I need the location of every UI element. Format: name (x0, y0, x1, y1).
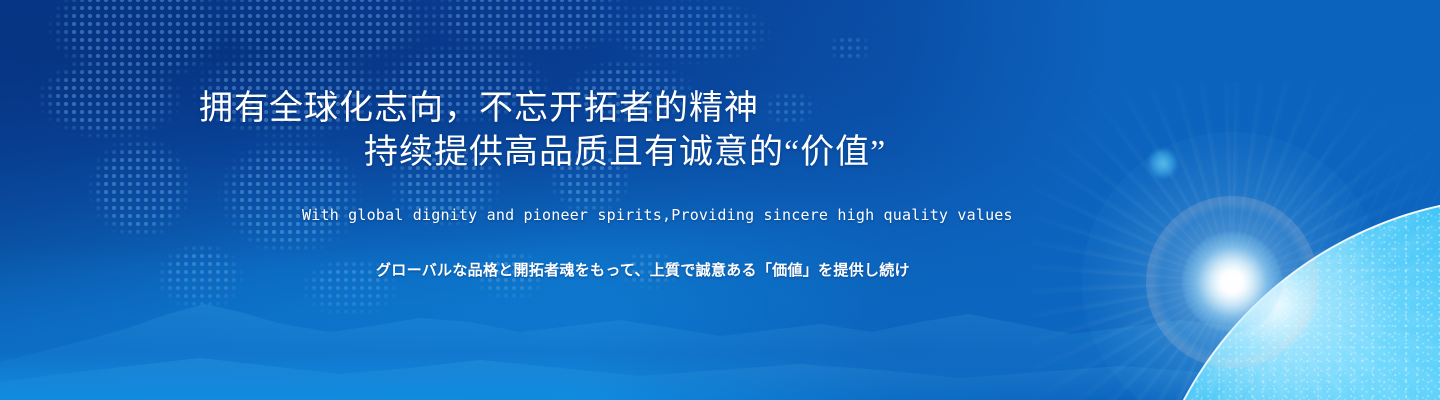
headline-line-1: 拥有全球化志向，不忘开拓者的精神 (199, 92, 759, 126)
subline-japanese: グローバルな品格と開拓者魂をもって、上質で誠意ある「価値」を提供し続け (376, 259, 910, 280)
hero-banner: 拥有全球化志向，不忘开拓者的精神 持续提供高品质且有诚意的“价值” With g… (0, 0, 1440, 400)
headline-line-2: 持续提供高品质且有诚意的“价值” (364, 136, 886, 170)
banner-copy-block: 拥有全球化志向，不忘开拓者的精神 持续提供高品质且有诚意的“价值” With g… (0, 0, 1440, 400)
subline-english: With global dignity and pioneer spirits,… (302, 206, 1013, 224)
